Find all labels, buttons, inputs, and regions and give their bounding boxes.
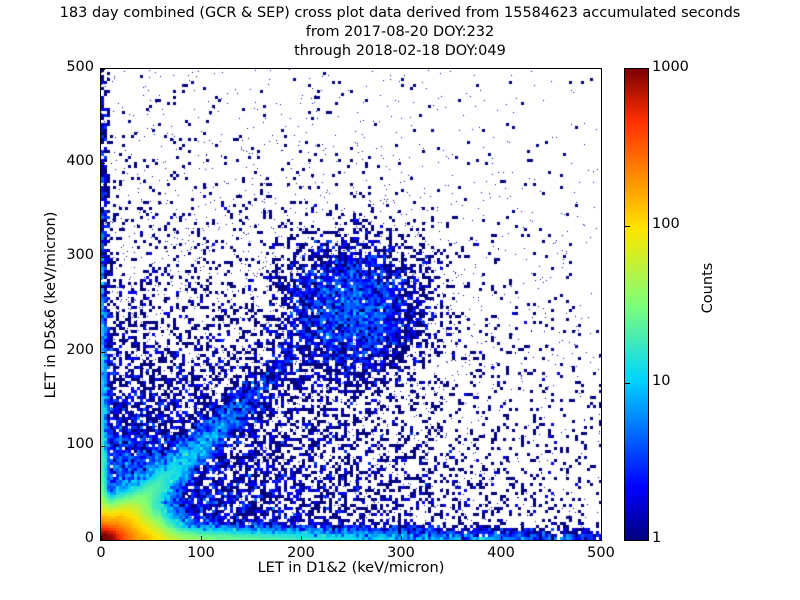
colorbar-tick <box>625 383 630 384</box>
x-axis-tick <box>401 536 402 540</box>
chart-title-line-1: 183 day combined (GCR & SEP) cross plot … <box>0 4 800 23</box>
colorbar-tick-label: 1 <box>652 530 661 546</box>
x-axis-tick <box>501 536 502 540</box>
density-heatmap <box>101 69 601 540</box>
x-axis-tick-label: 0 <box>71 545 131 561</box>
x-axis-label: LET in D1&2 (keV/micron) <box>100 560 602 576</box>
x-axis-tick <box>601 536 602 540</box>
y-axis-tick <box>101 540 105 541</box>
x-axis-tick-label: 300 <box>371 545 431 561</box>
y-axis-tick <box>101 352 105 353</box>
y-axis-tick-label: 0 <box>34 530 94 546</box>
y-axis-tick <box>101 69 105 70</box>
y-axis-tick-label: 500 <box>34 59 94 75</box>
colorbar-tick-label: 1000 <box>652 59 689 75</box>
colorbar-tick-label: 100 <box>652 216 680 232</box>
x-axis-tick <box>201 536 202 540</box>
colorbar-gradient <box>625 69 648 540</box>
figure-canvas: 183 day combined (GCR & SEP) cross plot … <box>0 0 800 600</box>
y-axis-tick <box>101 257 105 258</box>
x-axis-tick-label: 400 <box>471 545 531 561</box>
x-axis-tick <box>301 536 302 540</box>
x-axis-tick-label: 500 <box>571 545 631 561</box>
plot-area <box>100 68 602 541</box>
x-axis-tick-label: 200 <box>271 545 331 561</box>
chart-title-line-2: from 2017-08-20 DOY:232 <box>0 23 800 42</box>
chart-title: 183 day combined (GCR & SEP) cross plot … <box>0 4 800 61</box>
y-axis-label: LET in D5&6 (keV/micron) <box>43 150 59 460</box>
y-axis-tick <box>101 446 105 447</box>
x-axis-tick-label: 100 <box>171 545 231 561</box>
colorbar-tick <box>625 226 630 227</box>
colorbar-label: Counts <box>700 208 716 368</box>
y-axis-tick <box>101 163 105 164</box>
colorbar-tick-label: 10 <box>652 373 670 389</box>
colorbar <box>624 68 649 541</box>
